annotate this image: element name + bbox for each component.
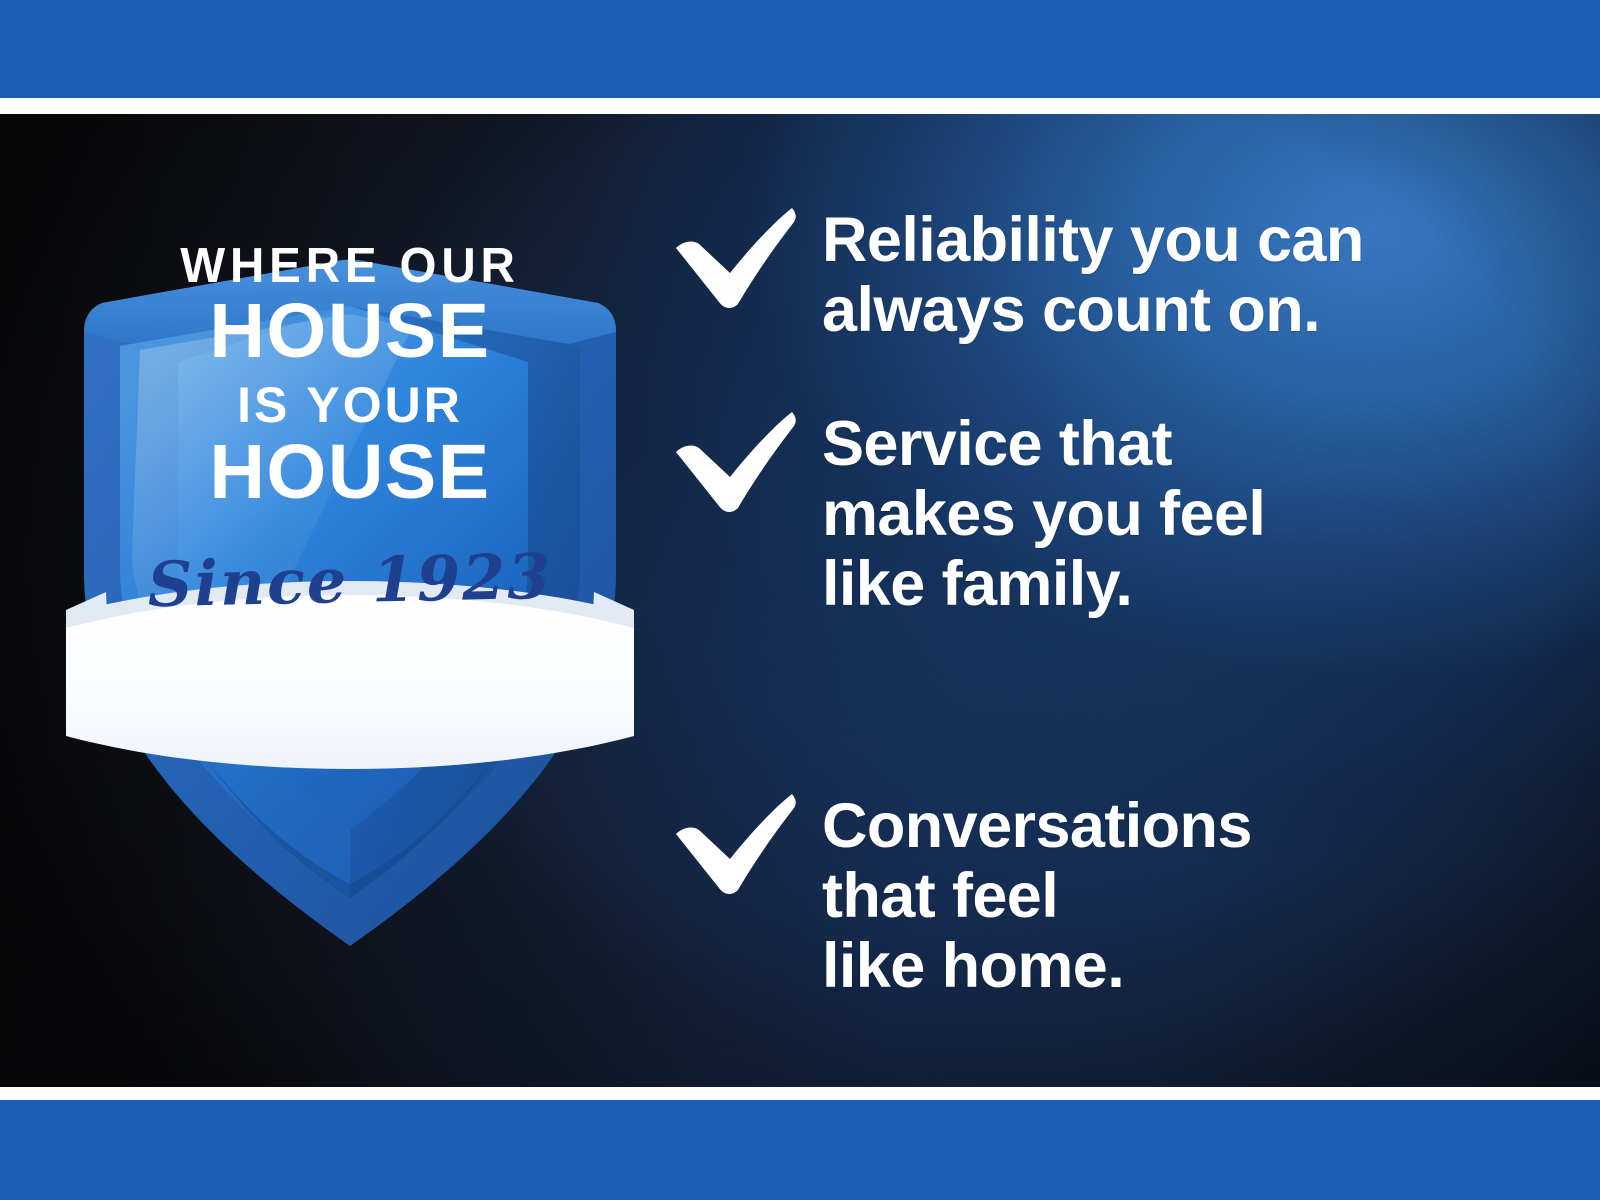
check-icon bbox=[668, 200, 800, 310]
top-brand-bar bbox=[0, 0, 1600, 98]
benefit-text-reliability: Reliability you can always count on. bbox=[822, 200, 1364, 346]
bottom-brand-bar bbox=[0, 1100, 1600, 1200]
benefit-item-service: Service that makes you feel like family. bbox=[668, 404, 1265, 620]
benefit-text-conversations: Conversations that feel like home. bbox=[822, 786, 1252, 1002]
benefits-list: Reliability you can always count on. Ser… bbox=[668, 114, 1528, 1087]
check-icon bbox=[668, 786, 800, 896]
benefit-item-conversations: Conversations that feel like home. bbox=[668, 786, 1252, 1002]
check-icon bbox=[668, 404, 800, 514]
shield-badge-logo: WHERE OUR HOUSE IS YOUR HOUSE Since 1923 bbox=[60, 140, 640, 840]
benefit-text-service: Service that makes you feel like family. bbox=[822, 404, 1265, 620]
promo-graphic: WHERE OUR HOUSE IS YOUR HOUSE Since 1923… bbox=[0, 0, 1600, 1200]
benefit-item-reliability: Reliability you can always count on. bbox=[668, 200, 1364, 346]
